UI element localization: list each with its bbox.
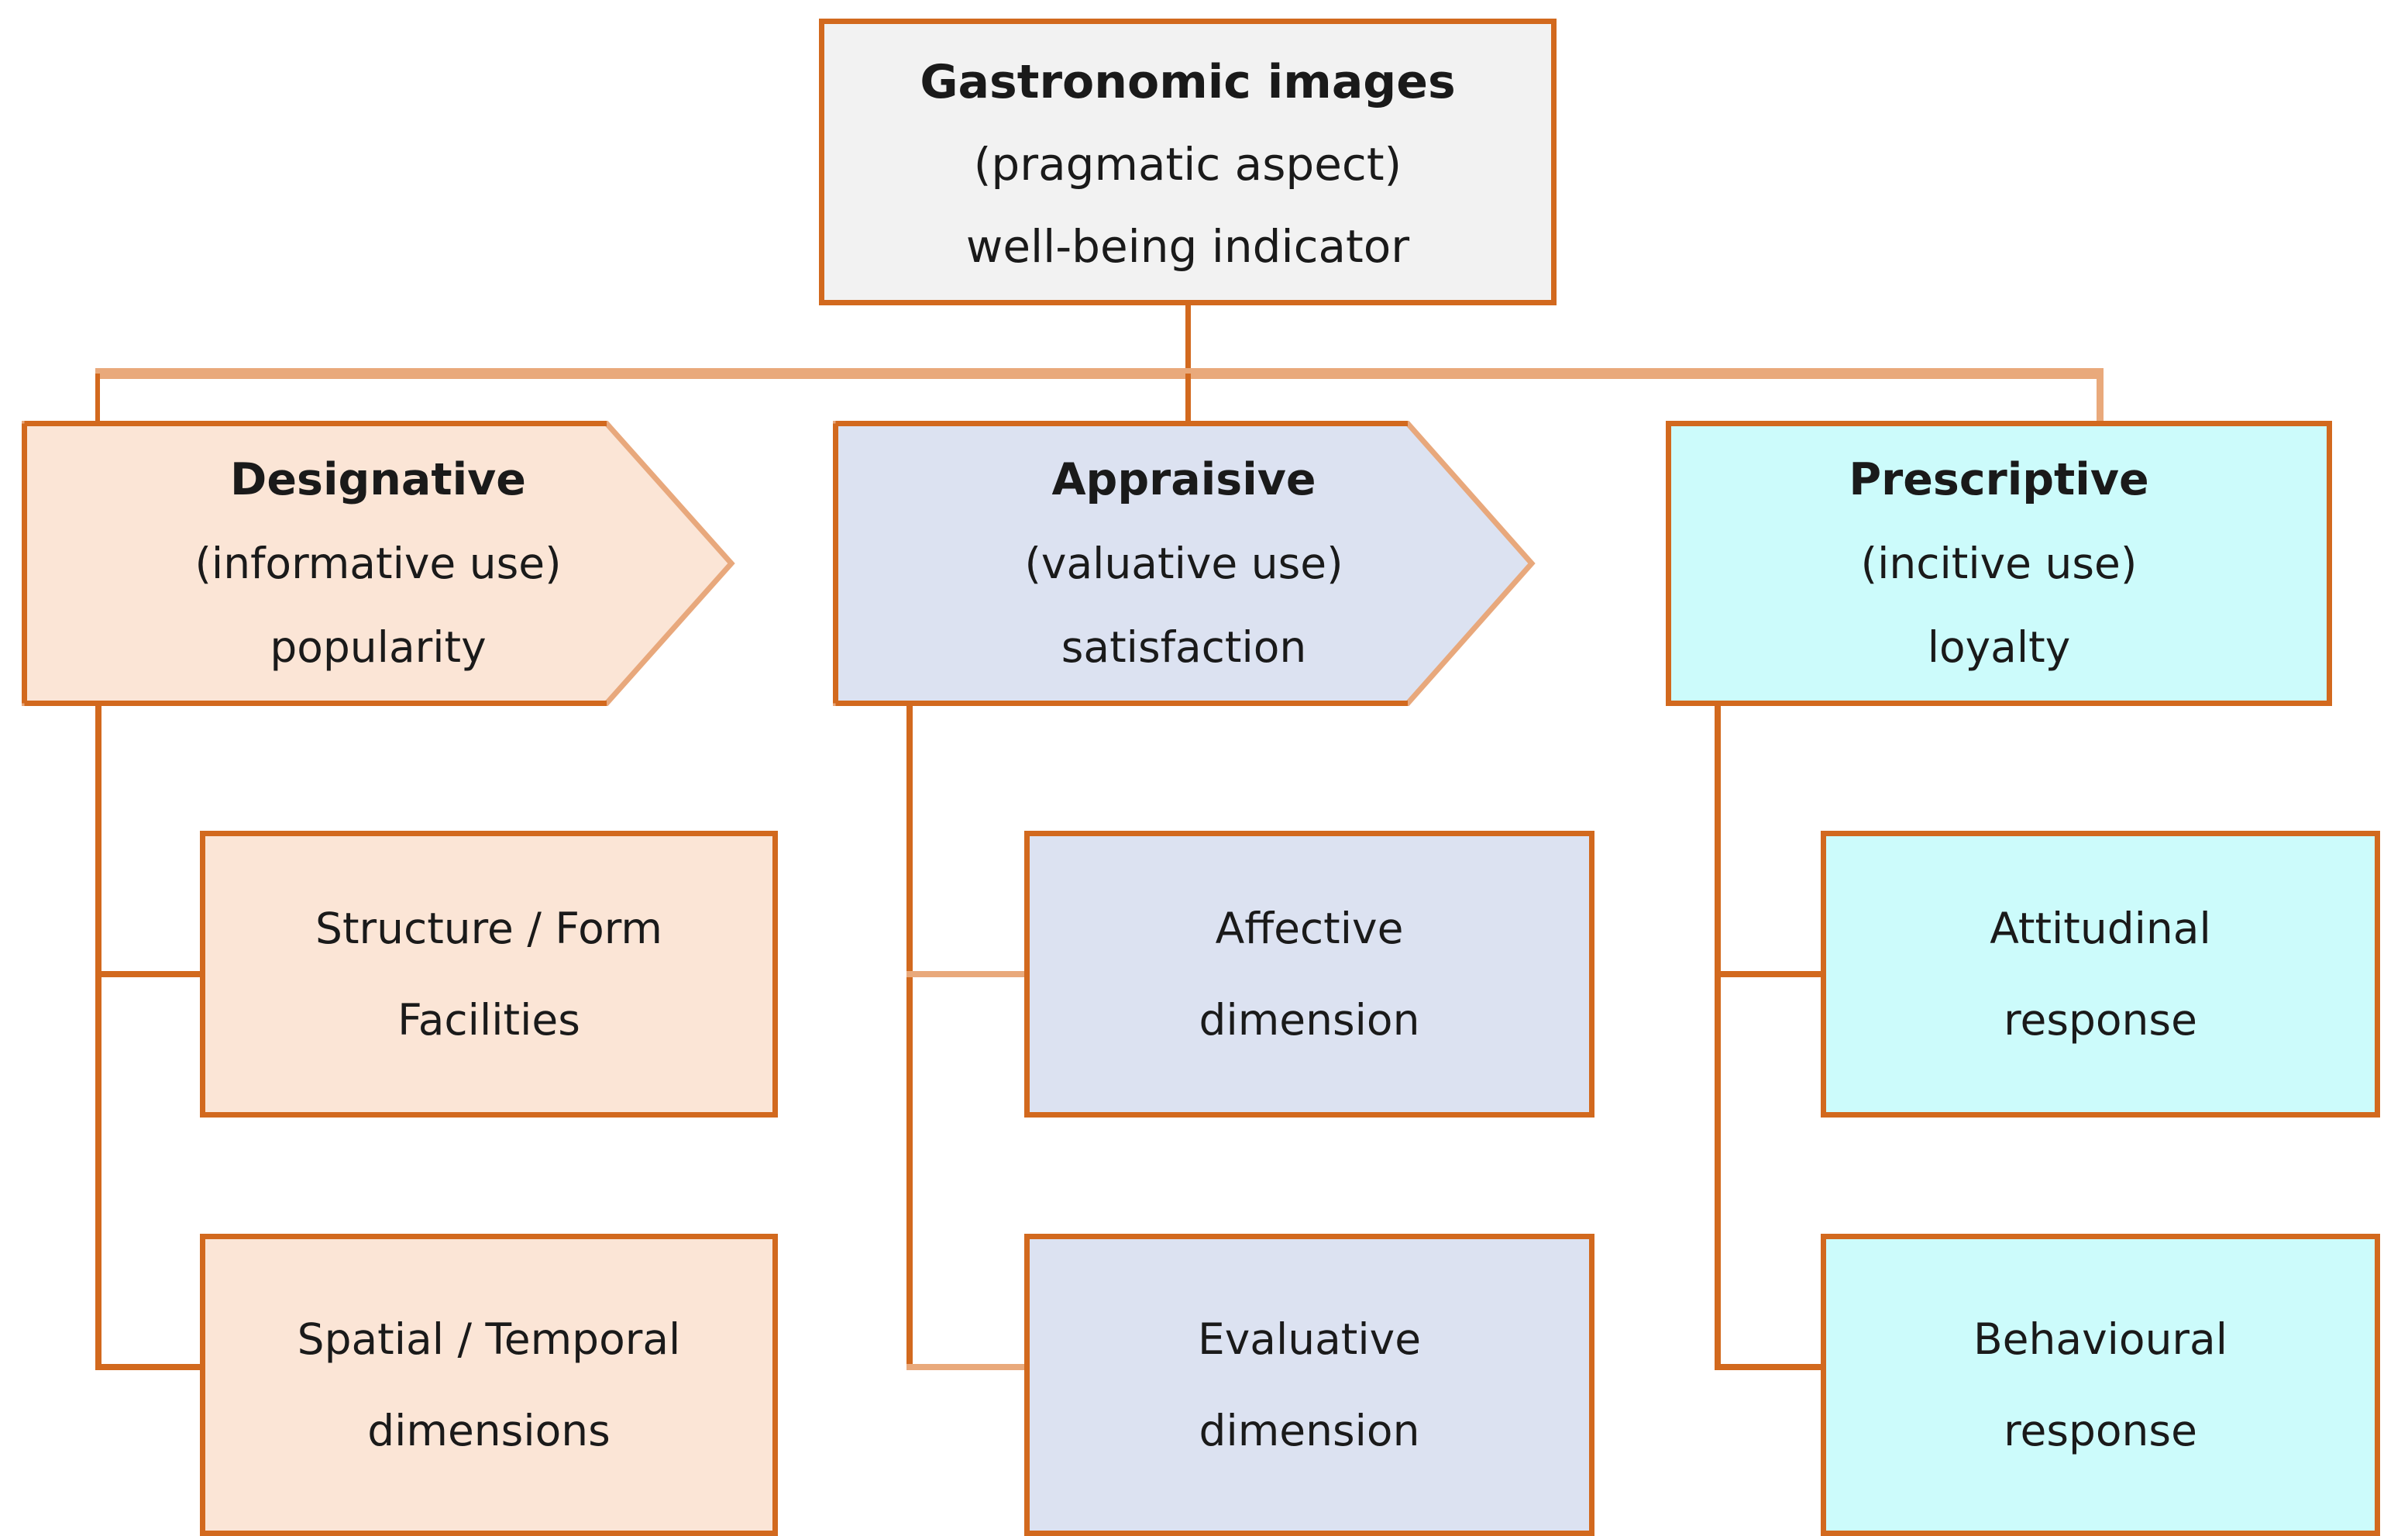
prescriptive-line3: loyalty xyxy=(1928,605,2071,689)
appraisive-line3: satisfaction xyxy=(1061,605,1307,689)
connector-stub-behavioural xyxy=(1715,1364,1825,1370)
behavioural-line1: Behavioural xyxy=(1973,1293,2227,1385)
connector-drop-appraisive xyxy=(1185,374,1191,422)
connector-stub-spatial-temporal xyxy=(95,1364,204,1370)
designative-line2: (informative use) xyxy=(194,522,561,605)
appraisive-line1: Appraisive xyxy=(1051,438,1316,522)
connector-spine-prescriptive xyxy=(1715,701,1721,1369)
spatial-temporal-line2: dimensions xyxy=(367,1385,611,1476)
root-node-gastronomic-images[interactable]: Gastronomic images (pragmatic aspect) we… xyxy=(819,19,1557,305)
connector-drop-designative xyxy=(95,374,100,422)
category-node-appraisive[interactable]: Appraisive (valuative use) satisfaction xyxy=(833,421,1535,706)
sub-node-behavioural-response[interactable]: Behavioural response xyxy=(1821,1234,2380,1536)
affective-line1: Affective xyxy=(1216,883,1404,974)
category-node-prescriptive[interactable]: Prescriptive (incitive use) loyalty xyxy=(1666,421,2332,706)
sub-node-evaluative-dimension[interactable]: Evaluative dimension xyxy=(1024,1234,1594,1536)
affective-line2: dimension xyxy=(1199,974,1420,1066)
connector-stub-affective xyxy=(906,971,1027,977)
spatial-temporal-line1: Spatial / Temporal xyxy=(298,1293,681,1385)
category-node-designative[interactable]: Designative (informative use) popularity xyxy=(22,421,734,706)
connector-spine-designative xyxy=(95,701,101,1369)
root-node-line2: (pragmatic aspect) xyxy=(974,123,1402,205)
connector-stub-evaluative xyxy=(906,1364,1027,1370)
attitudinal-line1: Attitudinal xyxy=(1990,883,2211,974)
root-node-line1: Gastronomic images xyxy=(920,41,1455,123)
root-node-line3: well-being indicator xyxy=(966,205,1409,288)
diagram-canvas: Gastronomic images (pragmatic aspect) we… xyxy=(0,0,2408,1536)
evaluative-line1: Evaluative xyxy=(1198,1293,1421,1385)
connector-spine-appraisive xyxy=(906,701,913,1369)
sub-node-spatial-temporal[interactable]: Spatial / Temporal dimensions xyxy=(200,1234,778,1536)
designative-line3: popularity xyxy=(270,605,486,689)
designative-line1: Designative xyxy=(230,438,526,522)
behavioural-line2: response xyxy=(2004,1385,2197,1476)
attitudinal-line2: response xyxy=(2004,974,2197,1066)
sub-node-affective-dimension[interactable]: Affective dimension xyxy=(1024,831,1594,1118)
connector-horizontal-bus xyxy=(95,368,2104,379)
connector-stub-structure-form xyxy=(95,971,204,977)
prescriptive-line1: Prescriptive xyxy=(1849,438,2148,522)
appraisive-line2: (valuative use) xyxy=(1024,522,1343,605)
connector-stub-attitudinal xyxy=(1715,971,1825,977)
prescriptive-line2: (incitive use) xyxy=(1861,522,2138,605)
connector-drop-prescriptive xyxy=(2097,374,2104,422)
sub-node-structure-form[interactable]: Structure / Form Facilities xyxy=(200,831,778,1118)
structure-form-line2: Facilities xyxy=(397,974,580,1066)
sub-node-attitudinal-response[interactable]: Attitudinal response xyxy=(1821,831,2380,1118)
connector-root-stem xyxy=(1185,305,1191,374)
evaluative-line2: dimension xyxy=(1199,1385,1420,1476)
structure-form-line1: Structure / Form xyxy=(315,883,662,974)
